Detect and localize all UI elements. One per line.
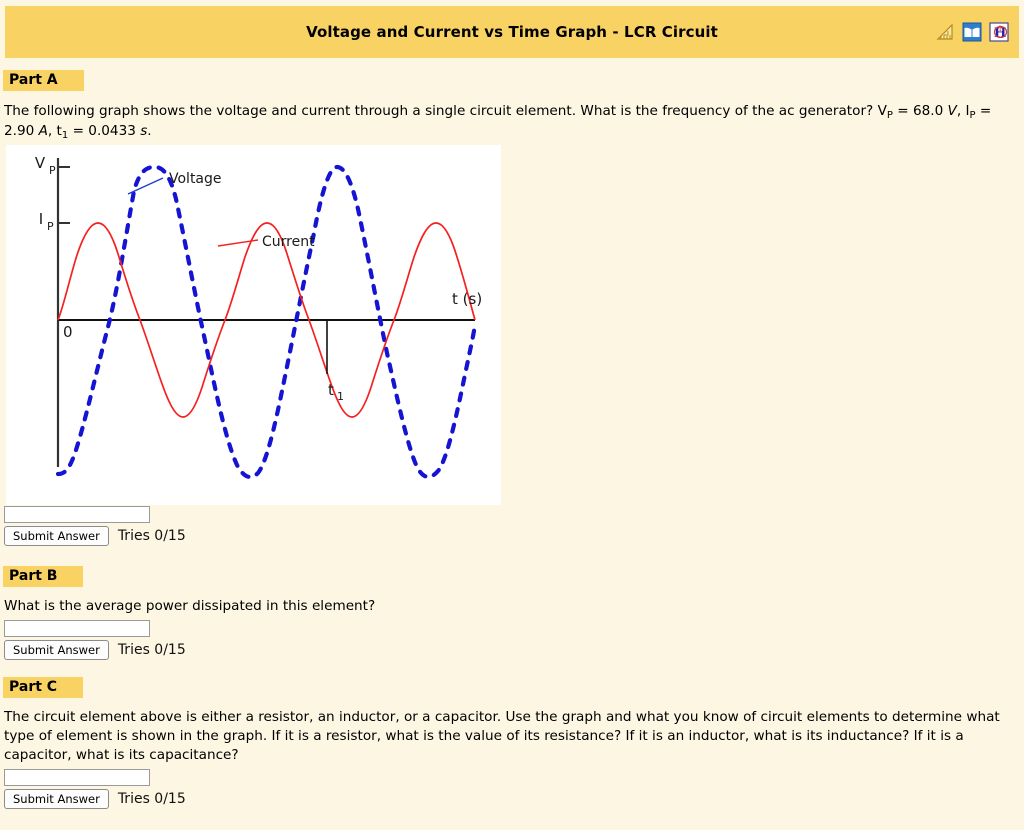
part-a-sub-ip: P	[970, 110, 976, 121]
ruler-triangle-icon[interactable]	[935, 22, 955, 42]
part-a-sub-vp: P	[887, 110, 893, 121]
current-callout-line	[218, 240, 258, 246]
voltage-series-label: Voltage	[169, 171, 222, 187]
part-a-submit-row: Submit Answer Tries 0/15	[4, 526, 1024, 546]
part-b-tries: Tries 0/15	[118, 642, 186, 658]
voltage-current-graph: V P I P 0 t (s) t 1 Voltage Current	[6, 145, 501, 505]
page-title: Voltage and Current vs Time Graph - LCR …	[306, 23, 718, 41]
part-b-label: Part B	[3, 566, 83, 587]
svg-text:h: h	[999, 25, 1004, 33]
part-a-sep2: , t	[48, 123, 62, 139]
y-label-vp-sub: P	[49, 164, 56, 177]
part-a-sub-t1: 1	[62, 130, 68, 141]
part-a-answer-input[interactable]	[4, 506, 150, 523]
graph-svg: V P I P 0 t (s) t 1 Voltage Current	[6, 145, 501, 505]
part-a-submit-button[interactable]: Submit Answer	[4, 526, 109, 546]
current-series-label: Current	[262, 234, 315, 250]
part-a-answer-area: Submit Answer Tries 0/15	[0, 506, 1024, 546]
part-a-sep1: , I	[957, 103, 970, 119]
x-axis-label: t (s)	[452, 290, 482, 308]
h-logo-icon[interactable]: H h	[989, 22, 1009, 42]
y-label-ip: I	[39, 210, 43, 228]
part-b-answer-input[interactable]	[4, 620, 150, 637]
section-part-a: Part A The following graph shows the vol…	[0, 70, 1024, 142]
voltage-curve	[58, 167, 475, 477]
part-a-mid3: = 0.0433	[68, 123, 140, 139]
origin-label: 0	[63, 323, 73, 341]
part-c-tries: Tries 0/15	[118, 791, 186, 807]
part-b-submit-button[interactable]: Submit Answer	[4, 640, 109, 660]
part-c-submit-row: Submit Answer Tries 0/15	[4, 789, 1024, 809]
part-a-label: Part A	[3, 70, 84, 91]
part-b-question: What is the average power dissipated in …	[0, 597, 1024, 616]
y-label-ip-sub: P	[47, 220, 54, 233]
page-header: Voltage and Current vs Time Graph - LCR …	[5, 6, 1019, 58]
part-c-question: The circuit element above is either a re…	[0, 708, 1024, 765]
part-a-question: The following graph shows the voltage an…	[0, 102, 1024, 142]
part-c-answer-input[interactable]	[4, 769, 150, 786]
part-a-tries: Tries 0/15	[118, 528, 186, 544]
section-part-b: Part B What is the average power dissipa…	[0, 566, 1024, 660]
t1-label: t	[328, 381, 334, 399]
part-b-submit-row: Submit Answer Tries 0/15	[4, 640, 1024, 660]
part-c-submit-button[interactable]: Submit Answer	[4, 789, 109, 809]
voltage-callout-line	[128, 178, 163, 194]
y-label-vp: V	[35, 154, 46, 172]
part-a-mid1: = 68.0	[893, 103, 948, 119]
part-a-end: .	[147, 123, 151, 139]
header-icon-group: H h	[935, 22, 1009, 42]
part-a-unit-v: V	[948, 103, 957, 119]
t1-label-sub: 1	[337, 390, 344, 403]
open-book-icon[interactable]	[962, 22, 982, 42]
part-c-label: Part C	[3, 677, 83, 698]
part-a-unit-a: A	[39, 123, 48, 139]
section-part-c: Part C The circuit element above is eith…	[0, 677, 1024, 809]
part-a-question-pre: The following graph shows the voltage an…	[4, 103, 887, 119]
